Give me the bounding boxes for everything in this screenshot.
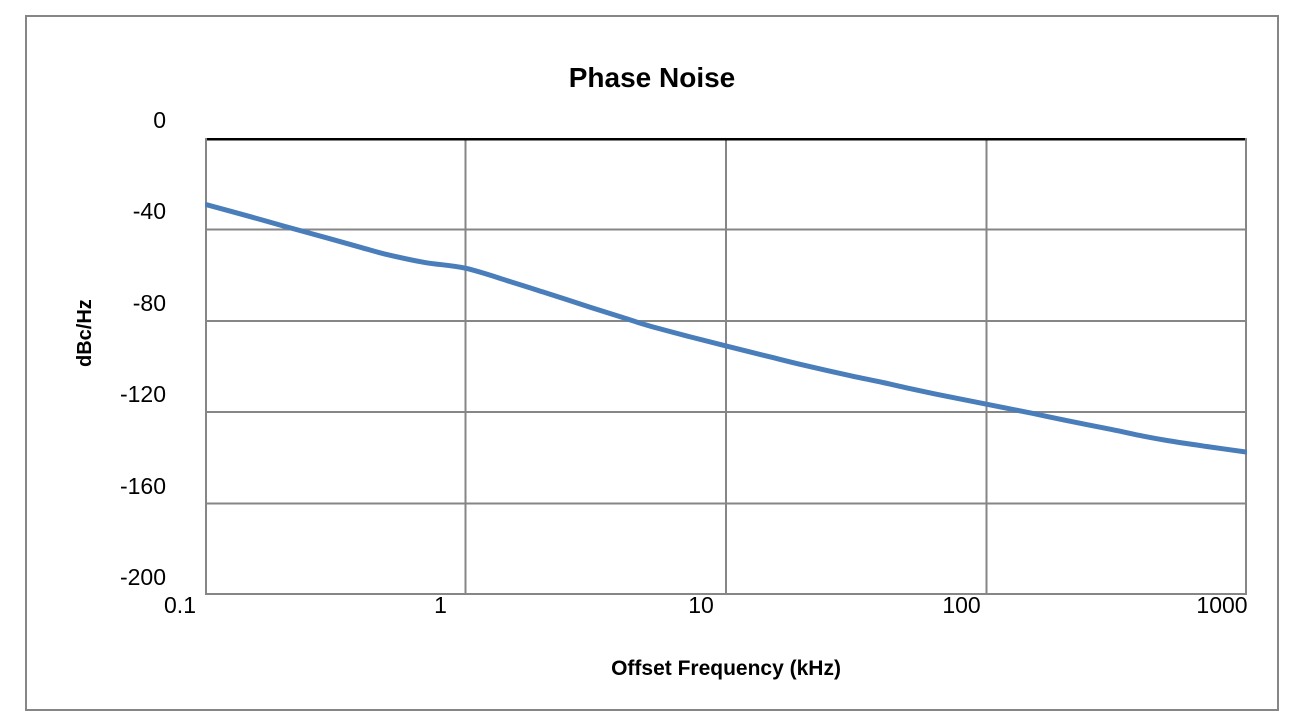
y-tick-label: -80	[27, 290, 166, 317]
y-tick-label: 0	[27, 107, 166, 134]
vertical-gridlines	[466, 138, 987, 595]
plot-svg	[205, 138, 1247, 595]
x-axis-title: Offset Frequency (kHz)	[205, 657, 1247, 681]
x-tick-label: 1	[434, 592, 447, 619]
x-tick-label: 100	[942, 592, 980, 619]
x-tick-label: 1000	[1196, 592, 1247, 619]
x-tick-label: 0.1	[164, 592, 196, 619]
y-tick-label: -200	[27, 564, 166, 591]
y-tick-label: -40	[27, 198, 166, 225]
chart-frame: Phase Noise dBc/Hz Offset Frequency (kHz…	[25, 15, 1279, 711]
y-tick-label: -160	[27, 473, 166, 500]
plot-area	[205, 138, 1247, 595]
x-tick-label: 10	[688, 592, 714, 619]
chart-title: Phase Noise	[27, 62, 1277, 94]
y-tick-label: -120	[27, 381, 166, 408]
